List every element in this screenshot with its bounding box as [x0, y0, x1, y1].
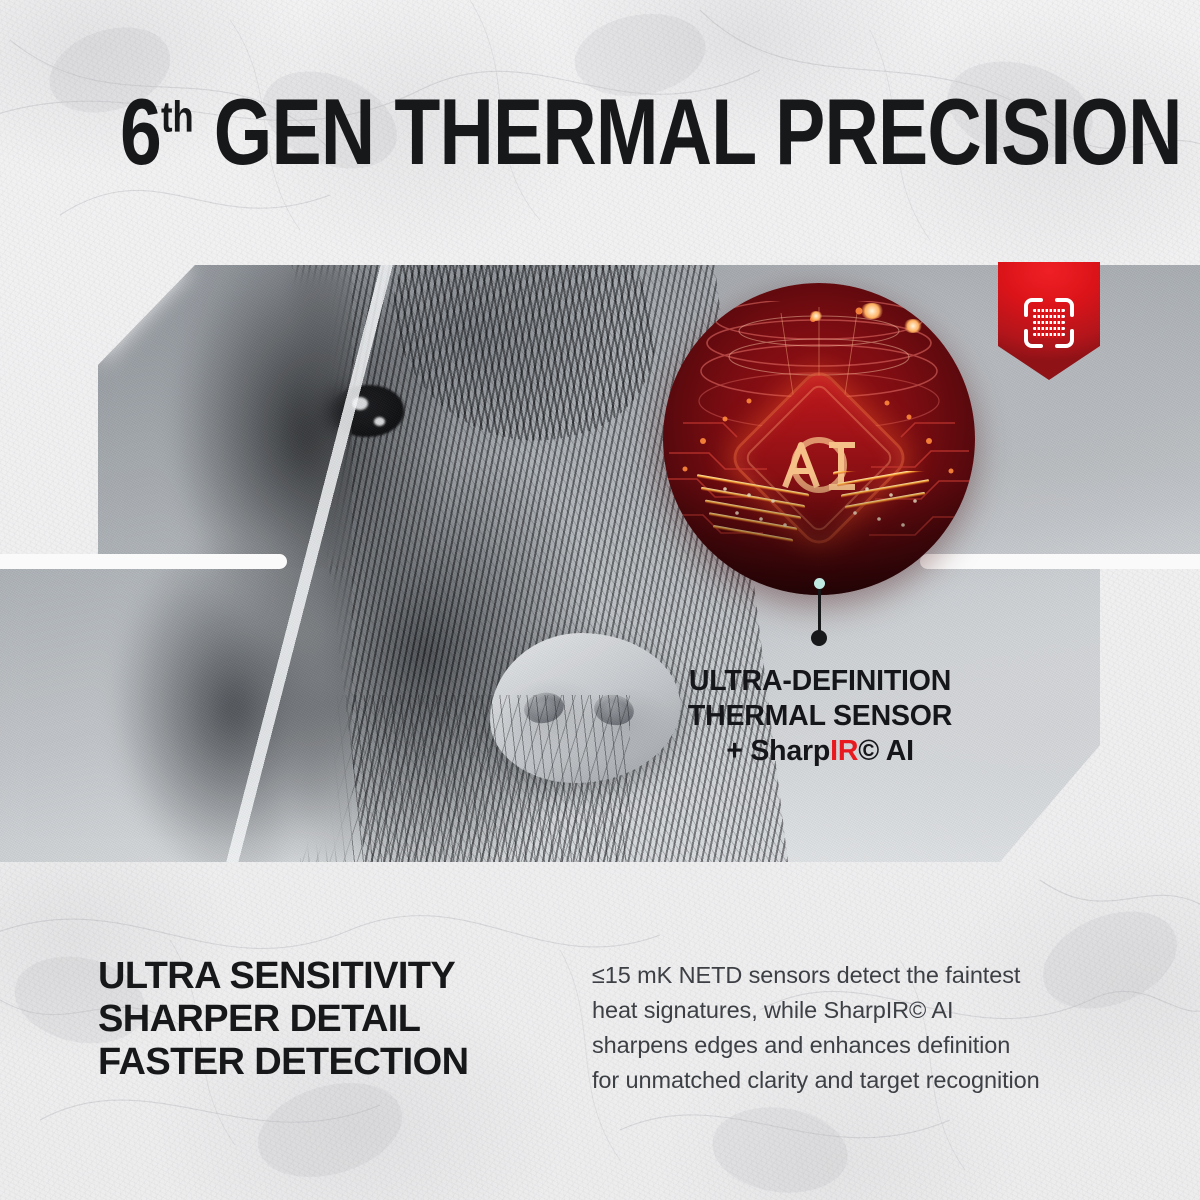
headline-ordinal: 6	[120, 79, 161, 184]
feature-heading-line-3: FASTER DETECTION	[98, 1041, 568, 1084]
callout-line-3: + SharpIR© AI	[600, 734, 1040, 769]
chip-highlight-spark	[809, 311, 823, 321]
callout-line-3-suffix: © AI	[858, 735, 914, 767]
body-copy-line-4: for unmatched clarity and target recogni…	[592, 1063, 1172, 1098]
accent-bar-left	[0, 554, 287, 569]
leader-dot-bottom	[811, 630, 827, 646]
sensor-callout: ULTRA-DEFINITION THERMAL SENSOR + SharpI…	[600, 664, 1040, 769]
callout-line-1: ULTRA-DEFINITION	[600, 664, 1040, 699]
headline-rest: GEN THERMAL PRECISION	[194, 79, 1182, 184]
feature-heading: ULTRA SENSITIVITY SHARPER DETAIL FASTER …	[98, 955, 568, 1084]
callout-line-3-prefix: + Sharp	[726, 735, 830, 767]
headline-ordinal-suffix: th	[161, 94, 194, 142]
chip-highlight-spark	[903, 319, 923, 333]
callout-leader	[814, 578, 824, 644]
promo-graphic: 6th GEN THERMAL PRECISION	[0, 0, 1200, 1200]
feature-heading-line-1: ULTRA SENSITIVITY	[98, 955, 568, 998]
leader-dot-top	[814, 578, 825, 589]
callout-line-2: THERMAL SENSOR	[600, 699, 1040, 734]
ai-chip-illustration	[663, 283, 975, 595]
callout-line-3-accent: IR	[830, 735, 858, 767]
sensor-array-icon	[1022, 296, 1076, 350]
body-copy-line-3: sharpens edges and enhances definition	[592, 1028, 1172, 1063]
feature-heading-line-2: SHARPER DETAIL	[98, 998, 568, 1041]
page-title: 6th GEN THERMAL PRECISION	[120, 86, 1080, 178]
chip-highlight-spark	[859, 303, 885, 319]
chip-bottom-shadow	[663, 475, 975, 595]
body-copy-line-1: ≤15 mK NETD sensors detect the faintest	[592, 958, 1172, 993]
body-copy: ≤15 mK NETD sensors detect the faintest …	[592, 958, 1172, 1098]
body-copy-line-2: heat signatures, while SharpIR© AI	[592, 993, 1172, 1028]
